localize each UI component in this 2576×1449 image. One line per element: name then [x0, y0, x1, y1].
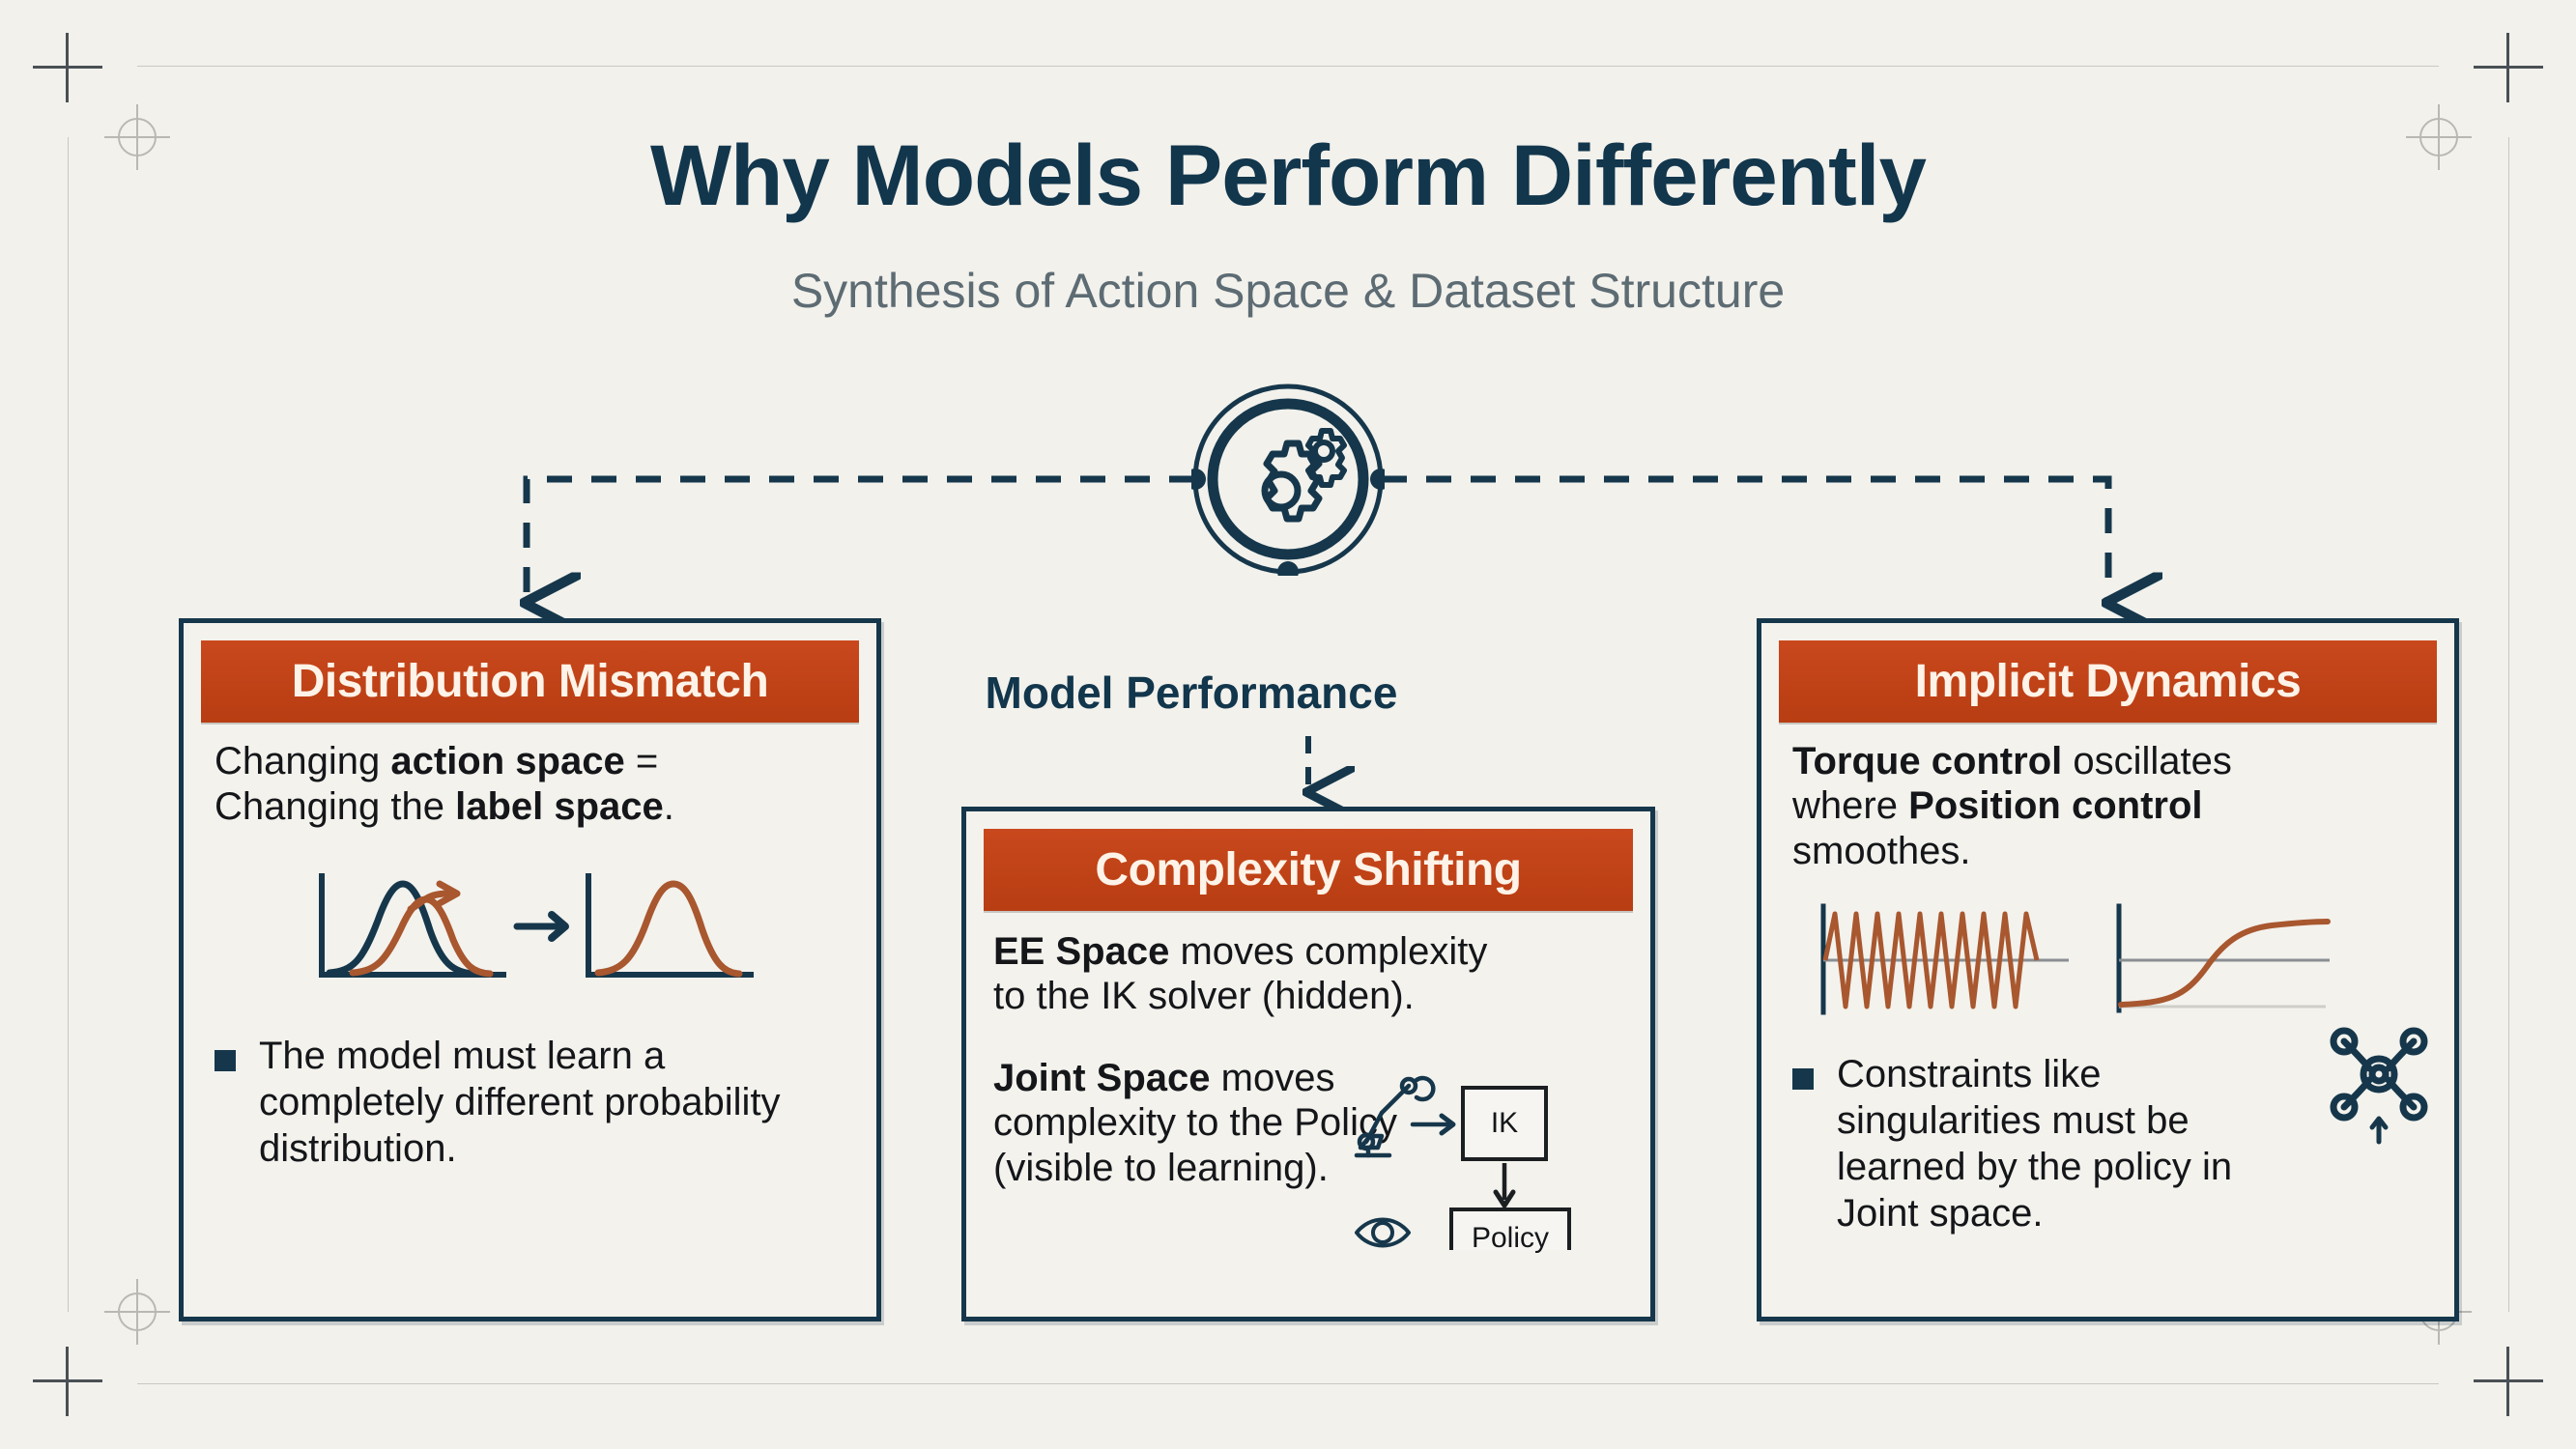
panel-distribution-mismatch[interactable]: Distribution Mismatch Changing action sp…	[179, 618, 881, 1321]
distribution-lead-text: Changing action space =Changing the labe…	[215, 739, 853, 830]
crosshair-mark-bottom-left	[104, 1279, 170, 1345]
panel-implicit-dynamics[interactable]: Implicit Dynamics Torque control oscilla…	[1757, 618, 2459, 1321]
policy-box-label: Policy	[1451, 1209, 1569, 1267]
panel-header-complexity-shifting: Complexity Shifting	[984, 829, 1633, 911]
registration-mark-bottom-right	[2474, 1347, 2543, 1416]
complexity-ik-policy-diagram: IK Policy	[1349, 1066, 1639, 1250]
panel-header-implicit-dynamics: Implicit Dynamics	[1779, 640, 2437, 723]
oscillation-waveform-icon	[1816, 900, 2076, 1016]
implicit-bullet-text: Constraints like singularities must be l…	[1837, 1051, 2295, 1236]
singularity-cross-icon	[2325, 1026, 2437, 1150]
sigmoid-curve-icon	[2109, 900, 2336, 1016]
registration-mark-top-left	[33, 33, 102, 102]
panel-body-complexity-shifting: EE Space moves complexityto the IK solve…	[993, 929, 1631, 1307]
guide-line-bottom	[137, 1383, 2439, 1384]
implicit-bullet: Constraints like singularities must be l…	[1792, 1051, 2295, 1236]
panel-body-implicit-dynamics: Torque control oscillateswhere Position …	[1792, 739, 2431, 1307]
panel-body-distribution-mismatch: Changing action space =Changing the labe…	[215, 739, 853, 1307]
implicit-lead-text: Torque control oscillateswhere Position …	[1792, 739, 2431, 873]
page-subtitle: Synthesis of Action Space & Dataset Stru…	[0, 263, 2576, 319]
poster-canvas: Why Models Perform Differently Synthesis…	[0, 0, 2576, 1449]
distribution-bullet: The model must learn a completely differ…	[215, 1033, 853, 1172]
registration-mark-top-right	[2474, 33, 2543, 102]
guide-line-top	[137, 66, 2439, 67]
page-title: Why Models Perform Differently	[0, 126, 2576, 225]
hub-label: Model Performance	[966, 667, 1417, 719]
panel-header-distribution-mismatch: Distribution Mismatch	[201, 640, 859, 723]
hub-gears-icon	[1191, 383, 1385, 576]
bullet-square-icon	[1792, 1068, 1814, 1090]
ik-box-label: IK	[1463, 1088, 1546, 1159]
distribution-bullet-text: The model must learn a completely differ…	[259, 1033, 853, 1172]
distribution-shift-icon	[215, 867, 853, 990]
registration-mark-bottom-left	[33, 1347, 102, 1416]
complexity-paragraph-ee: EE Space moves complexityto the IK solve…	[993, 929, 1631, 1019]
bullet-square-icon	[215, 1050, 236, 1071]
implicit-dynamics-icons	[1792, 900, 2431, 1016]
panel-complexity-shifting[interactable]: Complexity Shifting EE Space moves compl…	[961, 807, 1655, 1321]
